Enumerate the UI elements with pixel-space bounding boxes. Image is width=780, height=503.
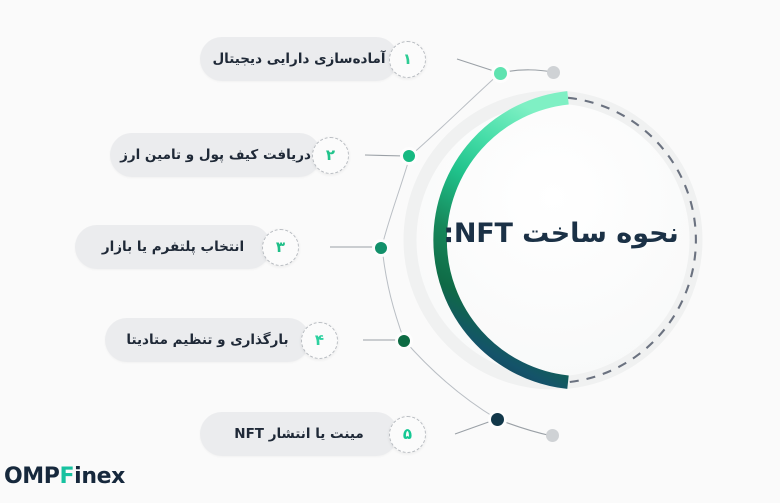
step-row-3[interactable]: انتخاب پلتفرم یا بازار ۳ <box>75 225 299 269</box>
step-node-4 <box>395 332 413 350</box>
step-label-text-5: مینت یا انتشار NFT <box>234 426 363 442</box>
step-row-4[interactable]: بارگذاری و تنظیم متادیتا ۴ <box>105 318 338 362</box>
logo-text-before: OMP <box>4 464 60 489</box>
step-badge-4[interactable]: ۴ <box>301 322 338 359</box>
end-dot-bottom <box>546 429 559 442</box>
step-number-3: ۳ <box>276 238 285 256</box>
center-title: نحوه ساخت NFT: <box>430 218 692 249</box>
step-label-pill-3[interactable]: انتخاب پلتفرم یا بازار <box>75 225 271 269</box>
step-node-2 <box>400 147 418 165</box>
step-row-1[interactable]: آماده‌سازی دارایی دیجیتال ۱ <box>200 37 426 81</box>
end-dot-top <box>547 66 560 79</box>
step-number-2: ۲ <box>326 146 335 164</box>
step-badge-3[interactable]: ۳ <box>262 229 299 266</box>
step-number-4: ۴ <box>315 331 324 349</box>
step-label-text-1: آماده‌سازی دارایی دیجیتال <box>212 51 385 67</box>
step-node-3 <box>372 239 390 257</box>
infographic-canvas: نحوه ساخت NFT: آماده‌سازی دارایی دیجیتال… <box>0 0 780 503</box>
logo-text-after: inex <box>74 464 125 489</box>
step-badge-5[interactable]: ۵ <box>389 416 426 453</box>
step-label-pill-1[interactable]: آماده‌سازی دارایی دیجیتال <box>200 37 398 81</box>
logo-text-highlight: F <box>60 464 75 489</box>
step-label-pill-2[interactable]: دریافت کیف پول و تامین ارز <box>110 133 321 177</box>
step-number-5: ۵ <box>403 425 412 443</box>
step-label-pill-4[interactable]: بارگذاری و تنظیم متادیتا <box>105 318 310 362</box>
step-row-2[interactable]: دریافت کیف پول و تامین ارز ۲ <box>110 133 349 177</box>
step-label-pill-5[interactable]: مینت یا انتشار NFT <box>200 412 398 456</box>
brand-logo: OMPFinex <box>4 464 125 489</box>
step-number-1: ۱ <box>403 50 412 68</box>
step-badge-1[interactable]: ۱ <box>389 41 426 78</box>
step-label-text-3: انتخاب پلتفرم یا بازار <box>102 239 244 255</box>
step-label-text-4: بارگذاری و تنظیم متادیتا <box>126 332 288 348</box>
step-node-5 <box>488 410 507 429</box>
step-row-5[interactable]: مینت یا انتشار NFT ۵ <box>200 412 426 456</box>
step-badge-2[interactable]: ۲ <box>312 137 349 174</box>
step-label-text-2: دریافت کیف پول و تامین ارز <box>120 147 311 163</box>
step-node-1 <box>491 64 510 83</box>
